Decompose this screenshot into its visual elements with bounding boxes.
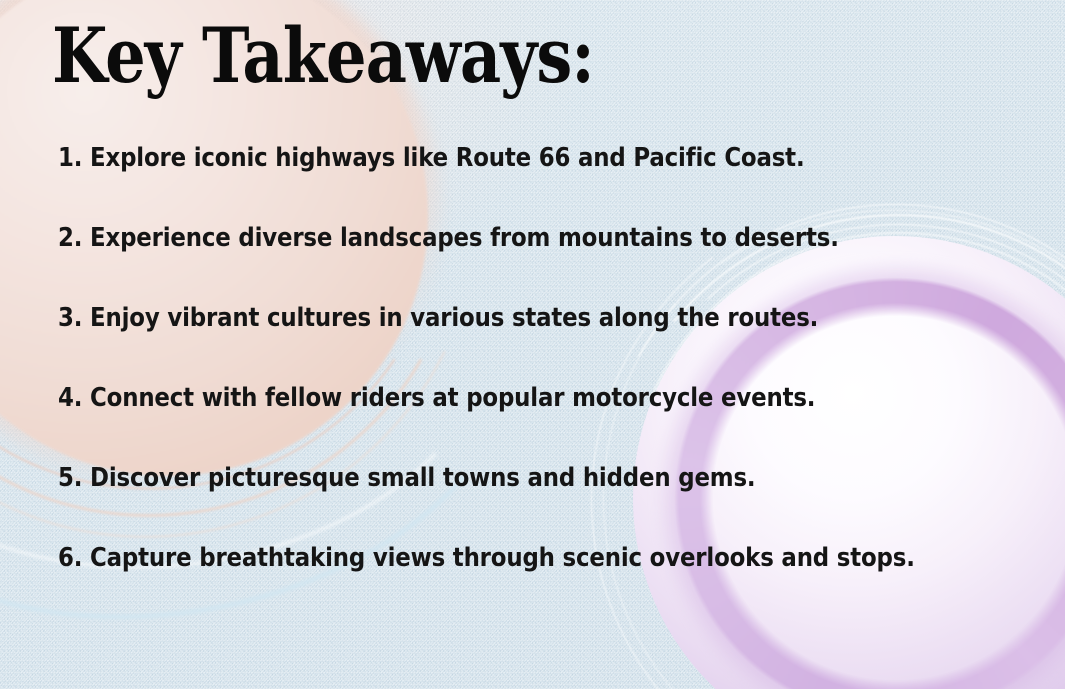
takeaways-list: 1. Explore iconic highways like Route 66… (58, 145, 1038, 625)
slide-canvas: Key Takeaways: 1. Explore iconic highway… (0, 0, 1065, 689)
list-item: 2. Experience diverse landscapes from mo… (58, 225, 920, 305)
list-item: 1. Explore iconic highways like Route 66… (58, 145, 920, 225)
slide-content: Key Takeaways: 1. Explore iconic highway… (0, 0, 1065, 689)
list-item: 6. Capture breathtaking views through sc… (58, 545, 920, 625)
list-item: 5. Discover picturesque small towns and … (58, 465, 920, 545)
page-title: Key Takeaways: (52, 16, 594, 96)
list-item: 4. Connect with fellow riders at popular… (58, 385, 920, 465)
list-item: 3. Enjoy vibrant cultures in various sta… (58, 305, 920, 385)
